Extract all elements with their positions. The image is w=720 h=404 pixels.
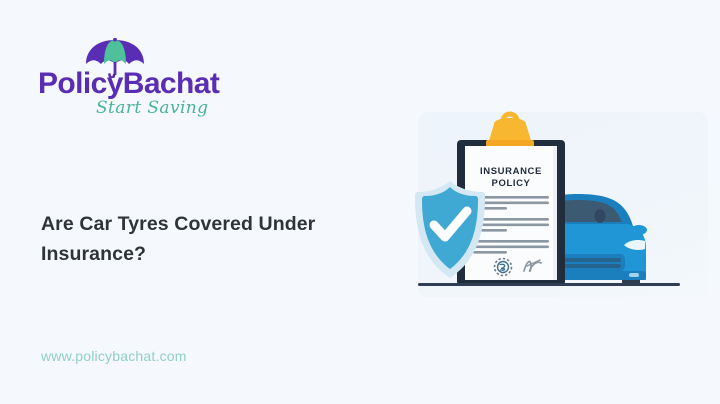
website-url: www.policybachat.com xyxy=(41,348,187,364)
document-title-line-1: INSURANCE xyxy=(480,166,542,177)
insurance-policy-shield-car-illustration: INSURANCE POLICY xyxy=(410,108,710,303)
banner: PolicyBachat Start Saving Are Car Tyres … xyxy=(0,0,720,404)
logo-tagline: Start Saving xyxy=(96,98,208,118)
page-title: Are Car Tyres Covered Under Insurance? xyxy=(41,209,391,269)
logo-wordmark: PolicyBachat xyxy=(38,69,219,99)
clipboard-clip-icon xyxy=(486,114,534,147)
document-title-line-2: POLICY xyxy=(492,178,531,189)
brand-logo[interactable]: PolicyBachat Start Saving xyxy=(38,38,268,120)
ground-line xyxy=(418,283,680,286)
